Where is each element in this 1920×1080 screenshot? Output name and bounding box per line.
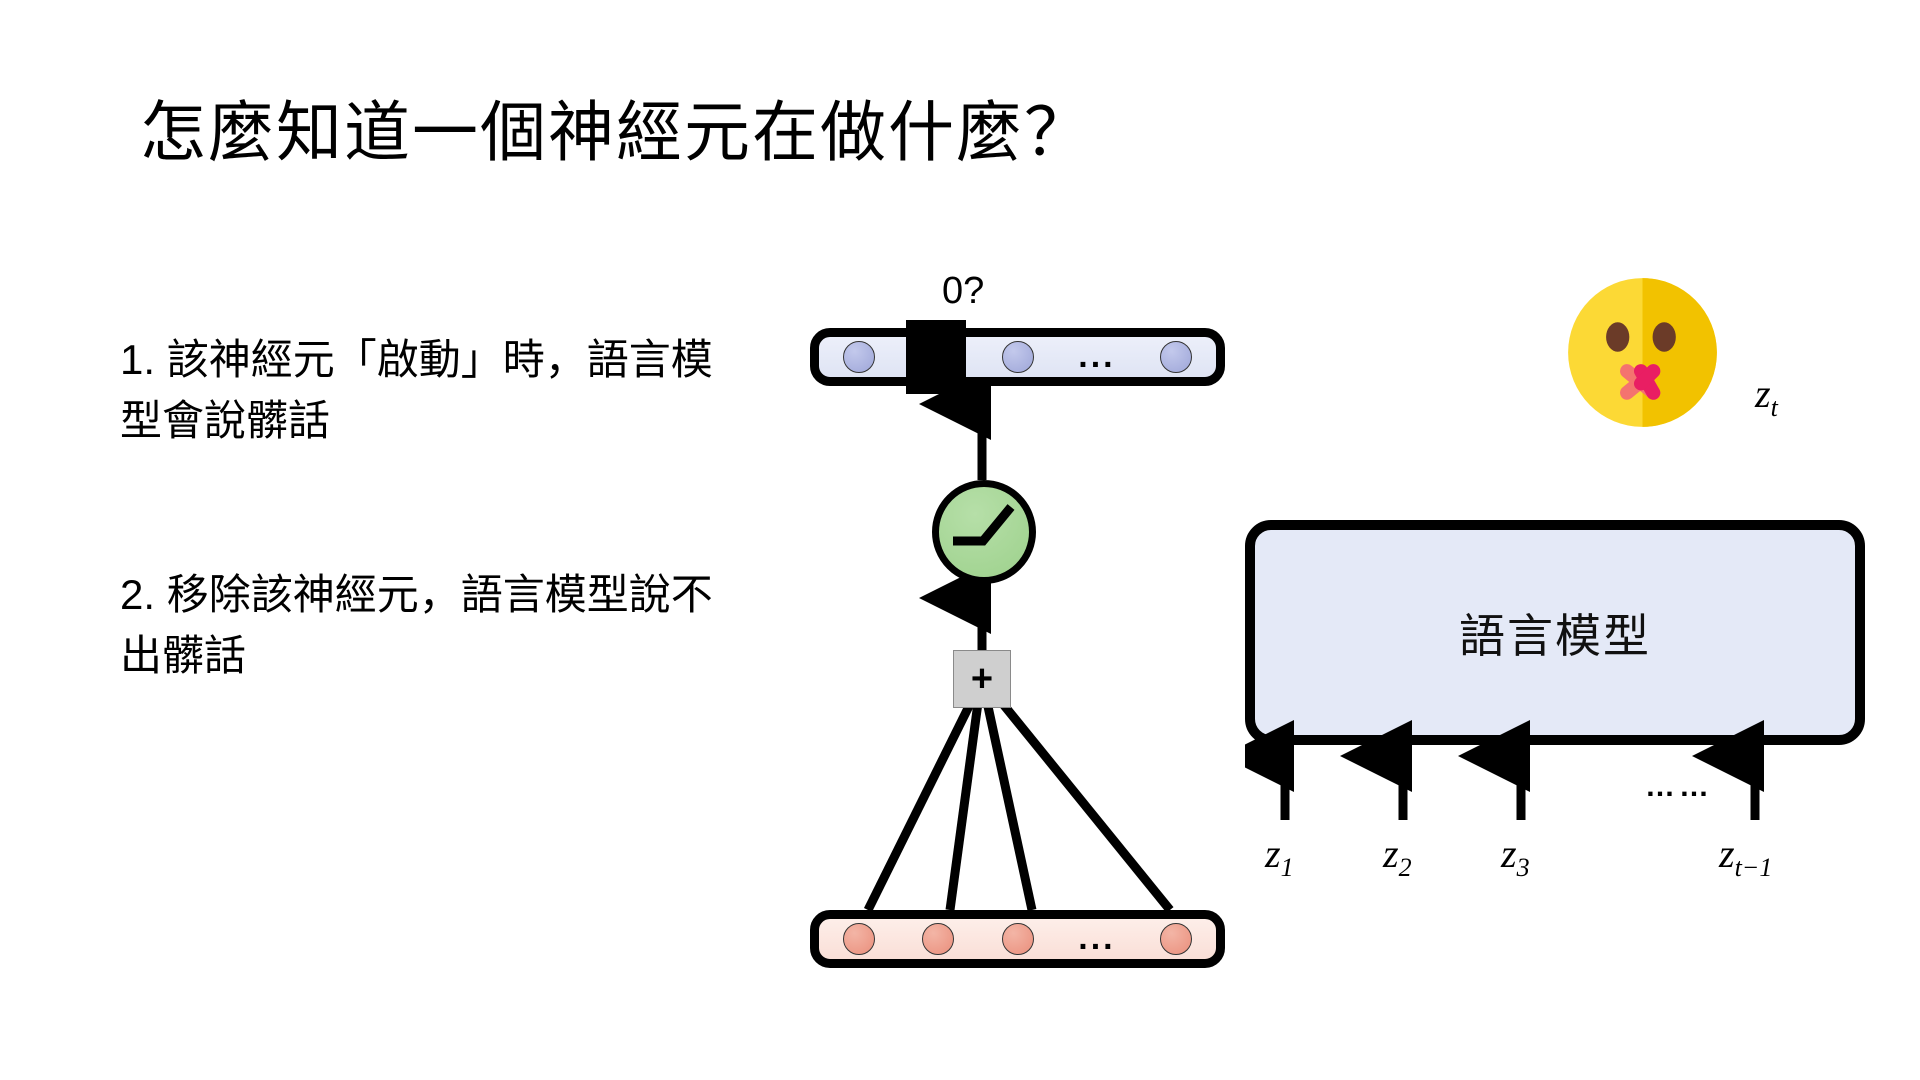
- input-node-3: [1002, 923, 1034, 955]
- lm-input-label-2: z2: [1383, 830, 1412, 883]
- neuron-diagram: 0? ... +: [810, 280, 1240, 1000]
- input-layer-ellipsis: ...: [1078, 932, 1115, 946]
- page-title: 怎麼知道一個神經元在做什麼？: [140, 96, 1092, 169]
- lm-output-label: zt: [1755, 370, 1778, 423]
- language-model-diagram: 語言模型 z1 z2 z3 zt−1: [1245, 520, 1885, 920]
- output-node-1: [843, 341, 875, 373]
- output-node-last: [1160, 341, 1192, 373]
- lm-input-label-last: zt−1: [1719, 830, 1772, 883]
- neuron-edges: [810, 280, 1240, 1000]
- bullet-item-1: 1. 該神經元「啟動」時，語言模型會說髒話: [120, 330, 740, 452]
- bullet-item-2: 2. 移除該神經元，語言模型說不出髒話: [120, 565, 740, 687]
- sum-operator-box: +: [953, 650, 1011, 708]
- relu-activation-icon: [932, 480, 1036, 584]
- output-layer-bar: ...: [810, 328, 1225, 386]
- input-node-1: [843, 923, 875, 955]
- input-layer-bar: ...: [810, 910, 1225, 968]
- input-node-last: [1160, 923, 1192, 955]
- lm-input-label-3: z3: [1501, 830, 1530, 883]
- language-model-box: 語言模型: [1245, 520, 1865, 745]
- face-with-x-mouth-icon: [1565, 275, 1720, 430]
- output-node-3: [1002, 341, 1034, 373]
- lm-input-label-1: z1: [1265, 830, 1294, 883]
- lm-inputs-ellipsis: ……: [1645, 770, 1713, 804]
- input-node-2: [922, 923, 954, 955]
- output-layer-ellipsis: ...: [1078, 350, 1115, 364]
- slide-canvas: 怎麼知道一個神經元在做什麼？ 1. 該神經元「啟動」時，語言模型會說髒話 2. …: [0, 0, 1920, 1080]
- masked-neuron-cell: [906, 320, 966, 394]
- zero-question-label: 0?: [942, 270, 984, 313]
